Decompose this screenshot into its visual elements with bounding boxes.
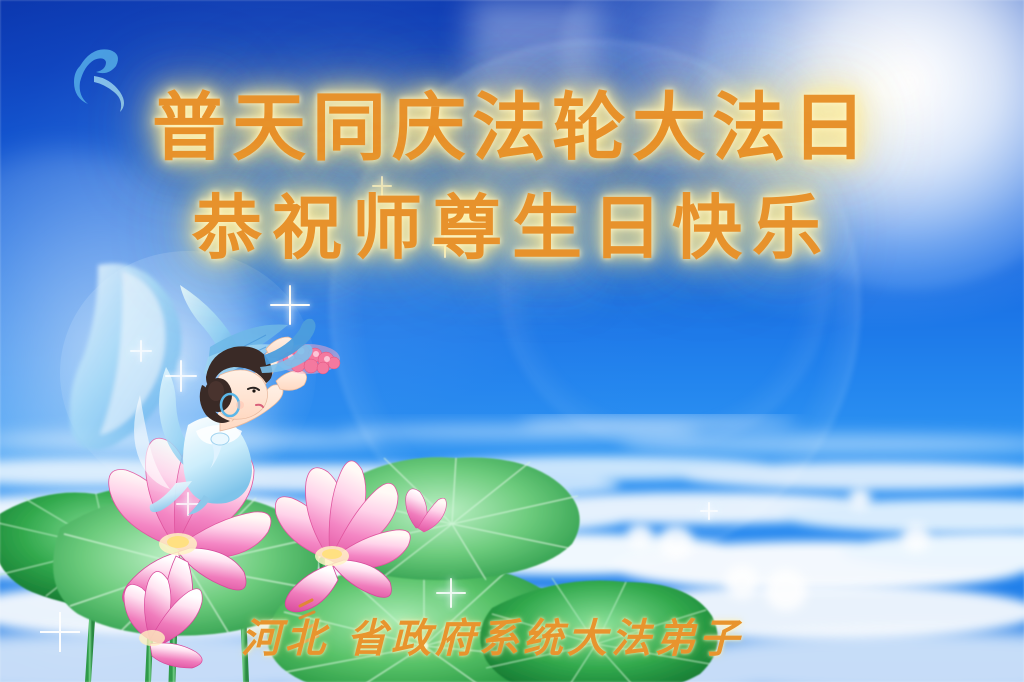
headline-line-1: 普天同庆法轮大法日 bbox=[0, 78, 1024, 178]
signature-text: 河北 省政府系统大法弟子 bbox=[241, 606, 783, 664]
headline-line-2: 恭祝师尊生日快乐 bbox=[0, 178, 1024, 278]
celestial-maiden bbox=[70, 255, 370, 515]
headline-block: 普天同庆法轮大法日 恭祝师尊生日快乐 bbox=[0, 78, 1024, 278]
signature-block: 河北 省政府系统大法弟子 bbox=[0, 606, 1024, 664]
greeting-card: 普天同庆法轮大法日 恭祝师尊生日快乐 河北 省政府系统大法弟子 bbox=[0, 0, 1024, 682]
